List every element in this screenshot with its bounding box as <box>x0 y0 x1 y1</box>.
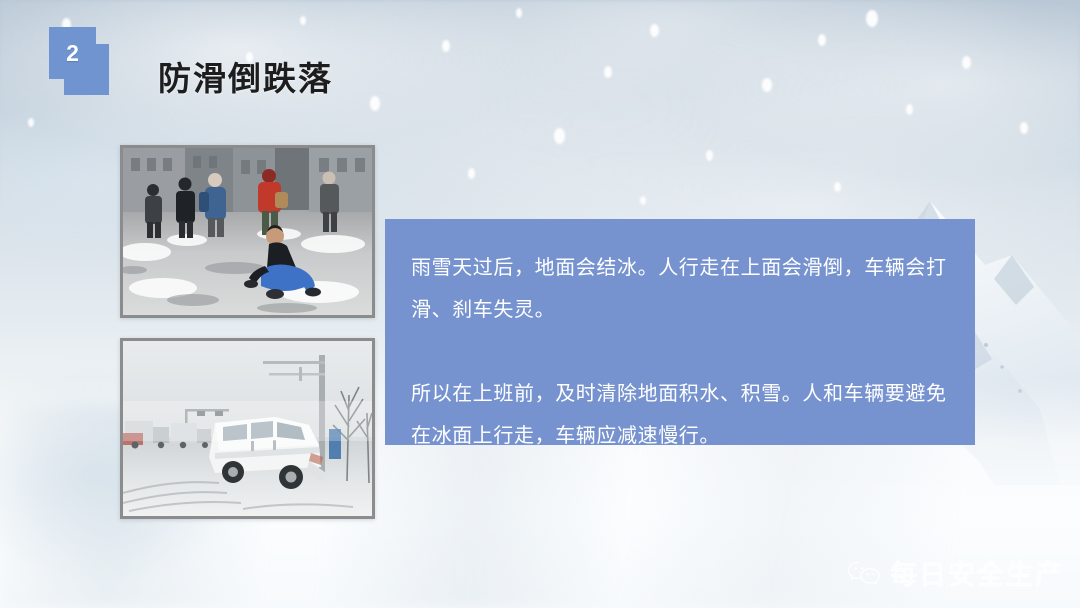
description-paragraph-2: 所以在上班前，及时清除地面积水、积雪。人和车辆要避免在冰面上行走，车辆应减速慢行… <box>411 373 947 457</box>
wechat-icon <box>847 559 881 587</box>
watermark: 每日安全生产 <box>847 553 1064 592</box>
slide-canvas: 2 防滑倒跌落 <box>0 0 1080 608</box>
description-paragraph-1: 雨雪天过后，地面会结冰。人行走在上面会滑倒，车辆会打滑、刹车失灵。 <box>411 247 947 331</box>
watermark-text: 每日安全生产 <box>890 553 1064 592</box>
page-title: 防滑倒跌落 <box>158 52 333 100</box>
photo-van-skidding <box>120 338 375 519</box>
photo-person-slipping <box>120 145 375 318</box>
slide-number-badge: 2 <box>49 27 109 95</box>
description-panel: 雨雪天过后，地面会结冰。人行走在上面会滑倒，车辆会打滑、刹车失灵。 所以在上班前… <box>385 219 975 445</box>
slide-number-text: 2 <box>49 27 96 79</box>
